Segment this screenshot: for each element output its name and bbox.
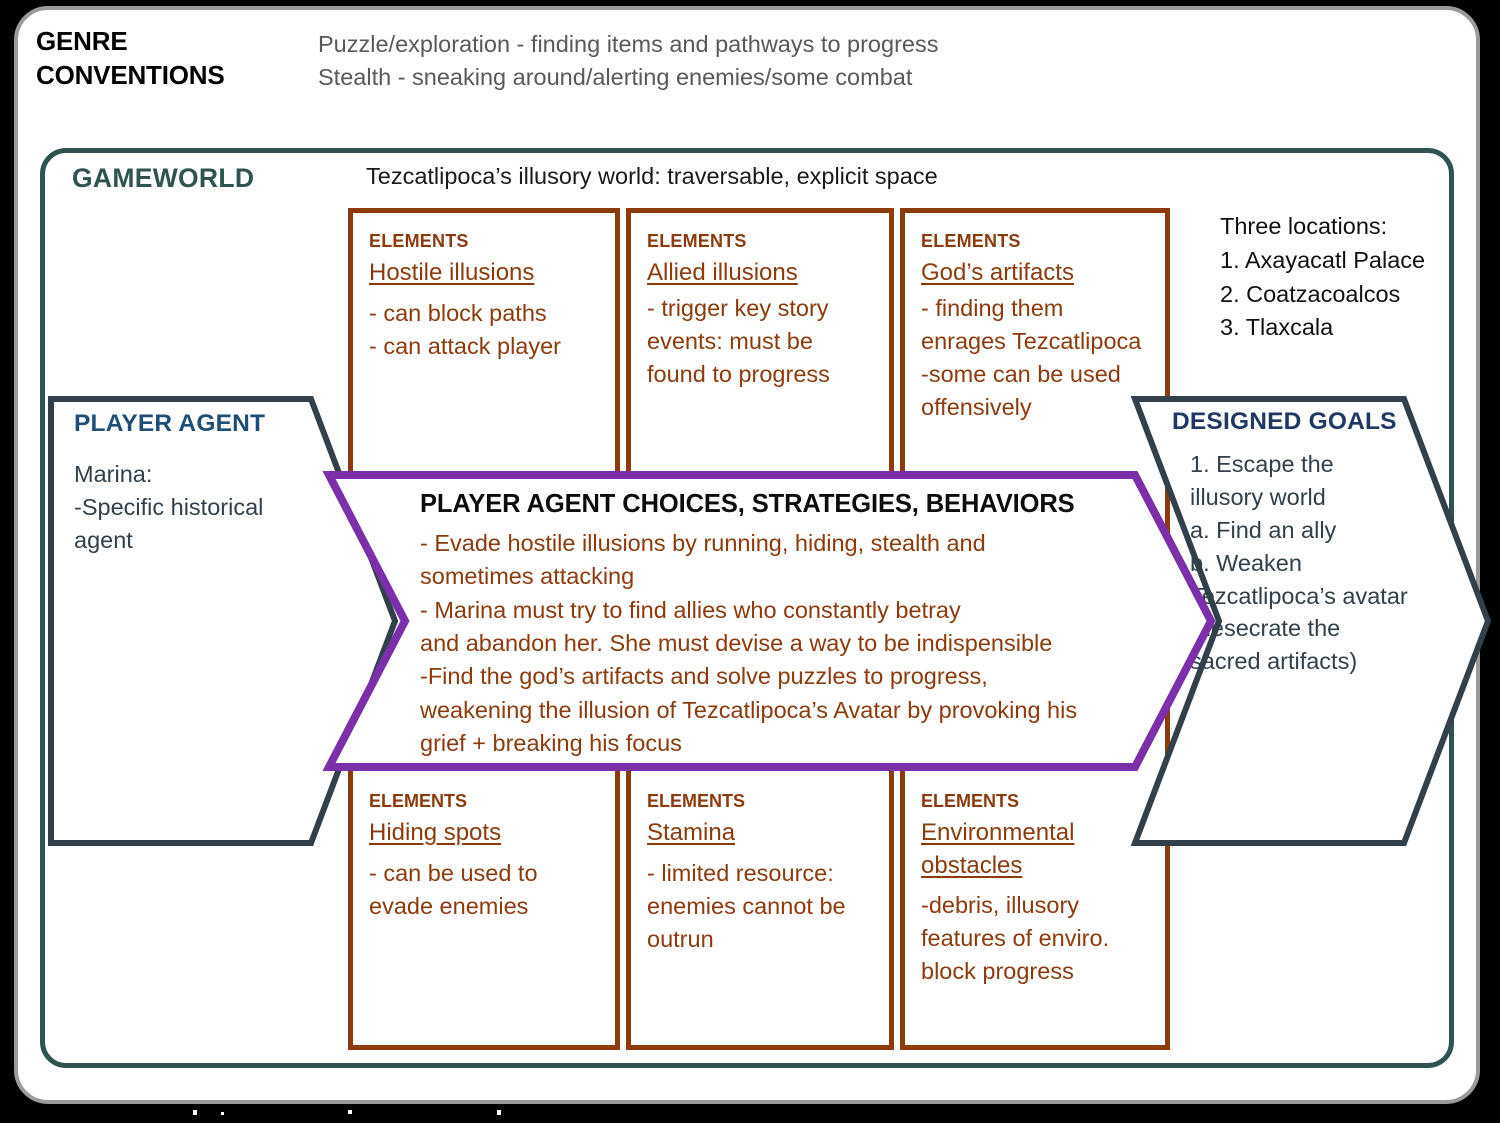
element-body-stamina: - limited resource: enemies cannot be ou…: [647, 857, 846, 956]
player-agent-choices-body: - Evade hostile illusions by running, hi…: [420, 527, 1162, 761]
element-title-gods-artifacts: God’s artifacts: [921, 257, 1074, 290]
player-agent-choices-title: PLAYER AGENT CHOICES, STRATEGIES, BEHAVI…: [420, 490, 1075, 519]
gameworld-title: GAMEWORLD: [72, 163, 254, 194]
slide-canvas: GENRE CONVENTIONS Puzzle/exploration - f…: [0, 0, 1500, 1123]
genre-conventions-title: GENRE CONVENTIONS: [36, 24, 306, 93]
element-title-environmental-obstacles: Environmental obstacles: [921, 817, 1165, 882]
elements-kicker: ELEMENTS: [921, 231, 1021, 252]
genre-conventions-lines: Puzzle/exploration - finding items and p…: [318, 28, 1138, 94]
render-speck: [497, 1110, 501, 1115]
player-agent-body: Marina: -Specific historical agent: [74, 458, 310, 557]
element-body-allied-illusions: - trigger key story events: must be foun…: [647, 292, 830, 391]
designed-goals-body: 1. Escape the illusory world a. Find an …: [1190, 448, 1480, 678]
gameworld-subtitle: Tezcatlipoca’s illusory world: traversab…: [366, 163, 938, 190]
elements-kicker: ELEMENTS: [921, 791, 1019, 812]
player-agent-title: PLAYER AGENT: [74, 410, 265, 438]
render-speck: [221, 1112, 224, 1115]
render-speck: [348, 1110, 352, 1114]
elements-kicker: ELEMENTS: [369, 231, 469, 252]
element-body-hostile-illusions: - can block paths - can attack player: [369, 297, 561, 363]
elements-kicker: ELEMENTS: [647, 791, 745, 812]
element-body-hiding-spots: - can be used to evade enemies: [369, 857, 538, 923]
elements-kicker: ELEMENTS: [647, 231, 747, 252]
three-locations-list: Three locations: 1. Axayacatl Palace 2. …: [1220, 210, 1470, 345]
designed-goals-title: DESIGNED GOALS: [1172, 408, 1397, 436]
element-title-stamina: Stamina: [647, 817, 735, 850]
element-title-hostile-illusions: Hostile illusions: [369, 257, 534, 290]
render-speck: [193, 1110, 197, 1115]
element-body-environmental-obstacles: -debris, illusory features of enviro. bl…: [921, 889, 1109, 988]
element-title-allied-illusions: Allied illusions: [647, 257, 798, 290]
